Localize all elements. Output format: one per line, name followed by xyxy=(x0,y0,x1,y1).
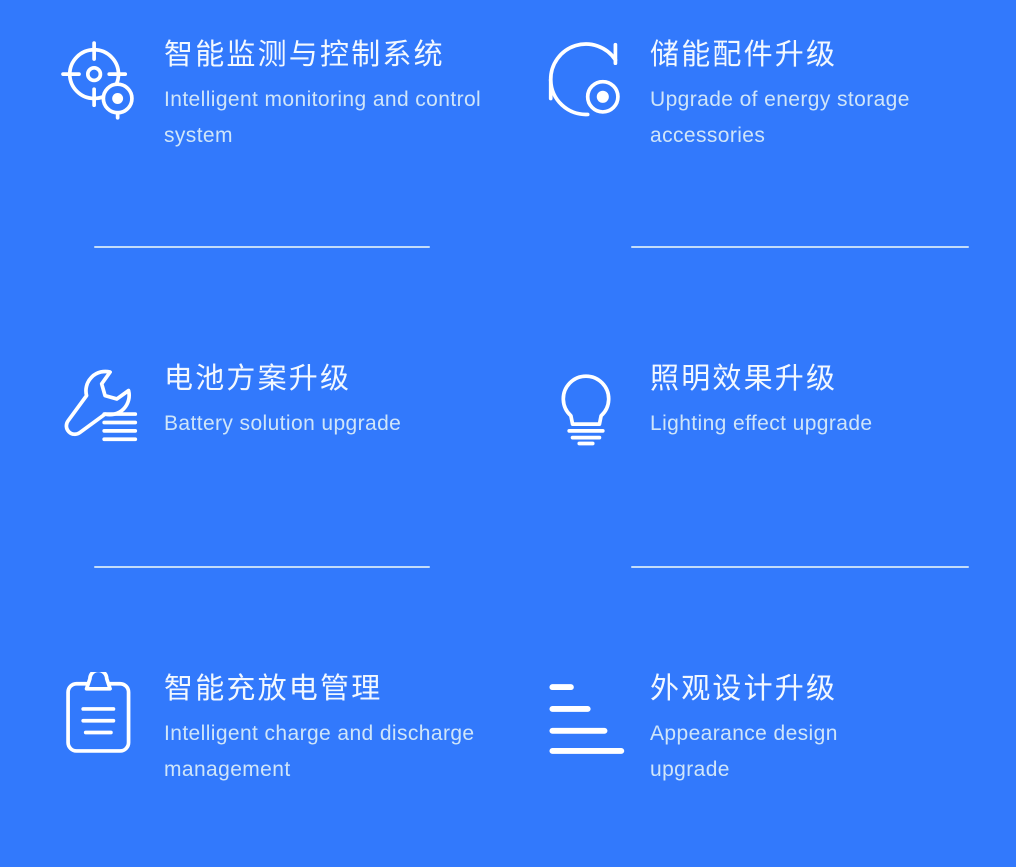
lightbulb-icon xyxy=(534,358,638,462)
feature-card-lighting-effect[interactable]: 照明效果升级 Lighting effect upgrade xyxy=(520,320,1016,640)
feature-title: 照明效果升级 xyxy=(650,358,872,398)
divider-row1-right xyxy=(631,246,969,248)
feature-subtitle: Intelligent charge and discharge managem… xyxy=(164,716,484,788)
feature-text-block: 电池方案升级 Battery solution upgrade xyxy=(152,358,401,442)
feature-text-block: 智能充放电管理 Intelligent charge and discharge… xyxy=(152,668,484,788)
feature-card-intelligent-monitoring[interactable]: 智能监测与控制系统 Intelligent monitoring and con… xyxy=(0,0,520,320)
clipboard-list-icon xyxy=(48,668,152,772)
feature-subtitle: Intelligent monitoring and control syste… xyxy=(164,82,484,154)
feature-title: 智能充放电管理 xyxy=(164,668,484,708)
divider-row1-left xyxy=(94,246,430,248)
wrench-list-icon xyxy=(48,358,152,462)
feature-subtitle: Appearance design upgrade xyxy=(650,716,918,788)
feature-title: 电池方案升级 xyxy=(164,358,401,398)
stacked-bars-icon xyxy=(534,668,638,772)
crosshair-target-icon xyxy=(48,34,152,138)
energy-cycle-icon xyxy=(534,34,638,138)
feature-card-appearance-design[interactable]: 外观设计升级 Appearance design upgrade xyxy=(520,640,1016,867)
feature-subtitle: Upgrade of energy storage accessories xyxy=(650,82,918,154)
feature-title: 储能配件升级 xyxy=(650,34,918,74)
feature-card-charge-discharge[interactable]: 智能充放电管理 Intelligent charge and discharge… xyxy=(0,640,520,867)
feature-card-battery-solution[interactable]: 电池方案升级 Battery solution upgrade xyxy=(0,320,520,640)
feature-text-block: 储能配件升级 Upgrade of energy storage accesso… xyxy=(638,34,918,154)
feature-text-block: 外观设计升级 Appearance design upgrade xyxy=(638,668,918,788)
feature-board: 智能监测与控制系统 Intelligent monitoring and con… xyxy=(0,0,1016,867)
feature-title: 外观设计升级 xyxy=(650,668,918,708)
feature-card-energy-storage-accessories[interactable]: 储能配件升级 Upgrade of energy storage accesso… xyxy=(520,0,1016,320)
feature-grid: 智能监测与控制系统 Intelligent monitoring and con… xyxy=(0,0,1016,867)
divider-row2-left xyxy=(94,566,430,568)
feature-title: 智能监测与控制系统 xyxy=(164,34,484,74)
feature-subtitle: Lighting effect upgrade xyxy=(650,406,872,442)
feature-text-block: 智能监测与控制系统 Intelligent monitoring and con… xyxy=(152,34,484,154)
feature-text-block: 照明效果升级 Lighting effect upgrade xyxy=(638,358,872,442)
feature-subtitle: Battery solution upgrade xyxy=(164,406,401,442)
divider-row2-right xyxy=(631,566,969,568)
